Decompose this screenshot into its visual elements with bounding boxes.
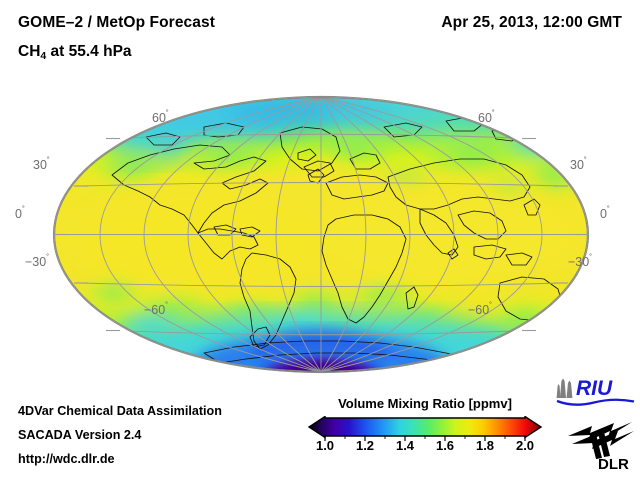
colorbar-tick-4: 1.8 <box>476 438 494 453</box>
lat-label-left-m30: −30˚ <box>25 253 49 269</box>
figure-title: GOME–2 / MetOp Forecast <box>18 14 215 32</box>
colorbar-tick-labels: 1.0 1.2 1.4 1.6 1.8 2.0 <box>300 438 550 458</box>
figure-root: GOME–2 / MetOp Forecast Apr 25, 2013, 12… <box>0 0 640 480</box>
species-level-label: CH4 at 55.4 hPa <box>18 43 132 61</box>
colorbar-tick-3: 1.6 <box>436 438 454 453</box>
colorbar-block: Volume Mixing Ratio [ppmv] <box>300 396 550 476</box>
degree-symbol: ˚ <box>22 205 25 215</box>
species-subscript: 4 <box>40 50 46 62</box>
degree-symbol: ˚ <box>165 301 168 311</box>
lat-label-right-m60: −60˚ <box>468 301 492 317</box>
species-name: CH <box>18 43 40 60</box>
colorbar-title: Volume Mixing Ratio [ppmv] <box>300 396 550 411</box>
footer-line-method: 4DVar Chemical Data Assimilation <box>18 404 222 418</box>
riu-logo: RIU <box>556 374 636 408</box>
lat-label-right-60: 60˚ <box>478 109 495 125</box>
colorbar-tick-1: 1.2 <box>356 438 374 453</box>
footer-line-url[interactable]: http://wdc.dlr.de <box>18 452 115 466</box>
degree-symbol: ˚ <box>492 109 495 119</box>
degree-symbol: ˚ <box>607 205 610 215</box>
lat-label-right-m30: −30˚ <box>568 253 592 269</box>
degree-symbol: ˚ <box>46 253 49 263</box>
riu-tower-icon <box>557 379 573 399</box>
degree-symbol: ˚ <box>589 253 592 263</box>
riu-wave-icon <box>557 400 634 405</box>
lat-tickmarks <box>54 97 588 372</box>
colorbar-tick-2: 1.4 <box>396 438 414 453</box>
species-level: at 55.4 hPa <box>46 43 131 60</box>
colorbar-tick-5: 2.0 <box>516 438 534 453</box>
lat-label-right-0: 0˚ <box>600 205 610 221</box>
degree-symbol: ˚ <box>166 109 169 119</box>
map-panel: 60˚ 30˚ 0˚ −30˚ −60˚ 60˚ 30˚ 0˚ −30˚ −60… <box>0 85 640 385</box>
lat-label-left-60: 60˚ <box>152 109 169 125</box>
riu-wordmark: RIU <box>576 377 613 400</box>
colorbar-tick-0: 1.0 <box>316 438 334 453</box>
dlr-wordmark: DLR <box>598 456 629 472</box>
globe-container <box>54 97 588 372</box>
lat-label-right-30: 30˚ <box>570 156 587 172</box>
degree-symbol: ˚ <box>47 156 50 166</box>
footer-line-version: SACADA Version 2.4 <box>18 428 141 442</box>
figure-datetime: Apr 25, 2013, 12:00 GMT <box>441 14 622 32</box>
degree-symbol: ˚ <box>489 301 492 311</box>
lat-label-left-0: 0˚ <box>15 205 25 221</box>
dlr-logo: DLR <box>562 414 636 472</box>
lat-label-left-30: 30˚ <box>33 156 50 172</box>
lat-label-left-m60: −60˚ <box>144 301 168 317</box>
dlr-mark-icon <box>568 422 634 459</box>
degree-symbol: ˚ <box>584 156 587 166</box>
